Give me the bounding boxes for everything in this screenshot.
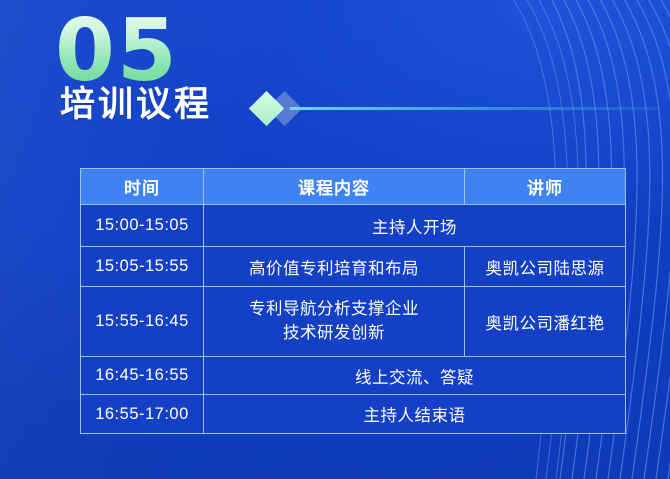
- table-row: 16:45-16:55 线上交流、答疑: [81, 357, 626, 395]
- section-number: 05: [55, 8, 179, 94]
- cell-time: 15:55-16:45: [81, 287, 204, 357]
- table-header-row: 时间 课程内容 讲师: [81, 169, 626, 205]
- slide-canvas: 05 培训议程 时间 课程内容 讲师 15:00-15:05 主持人开场 15:…: [0, 0, 670, 479]
- cell-time: 16:55-17:00: [81, 395, 204, 434]
- slide-header: 05 培训议程: [0, 0, 670, 150]
- cell-time: 16:45-16:55: [81, 357, 204, 395]
- cell-course: 线上交流、答疑: [204, 357, 626, 395]
- cell-instructor: 奥凯公司潘红艳: [465, 287, 626, 357]
- column-header-instructor: 讲师: [465, 169, 626, 205]
- agenda-table: 时间 课程内容 讲师 15:00-15:05 主持人开场 15:05-15:55…: [80, 168, 626, 434]
- cell-course: 高价值专利培育和布局: [204, 247, 465, 287]
- cell-course-line2: 技术研发创新: [208, 322, 460, 346]
- cell-time: 15:05-15:55: [81, 247, 204, 287]
- table-row: 15:55-16:45 专利导航分析支撑企业 技术研发创新 奥凯公司潘红艳: [81, 287, 626, 357]
- accent-line: [290, 107, 660, 110]
- table-row: 15:00-15:05 主持人开场: [81, 205, 626, 247]
- cell-course: 主持人结束语: [204, 395, 626, 434]
- cell-time: 15:00-15:05: [81, 205, 204, 247]
- cell-course: 专利导航分析支撑企业 技术研发创新: [204, 287, 465, 357]
- table-row: 15:05-15:55 高价值专利培育和布局 奥凯公司陆思源: [81, 247, 626, 287]
- cell-instructor: 奥凯公司陆思源: [465, 247, 626, 287]
- title-decoration: [250, 90, 660, 128]
- cell-course-line1: 专利导航分析支撑企业: [208, 298, 460, 322]
- page-title: 培训议程: [60, 85, 212, 125]
- column-header-course: 课程内容: [204, 169, 465, 205]
- cell-course: 主持人开场: [204, 205, 626, 247]
- table-row: 16:55-17:00 主持人结束语: [81, 395, 626, 434]
- column-header-time: 时间: [81, 169, 204, 205]
